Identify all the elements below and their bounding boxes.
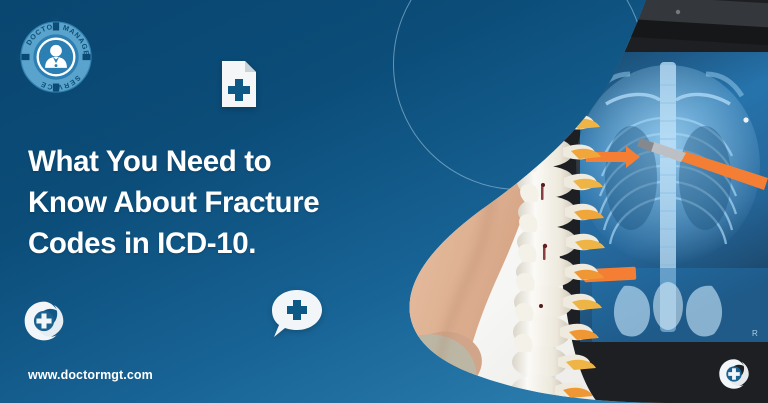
promo-banner: R: [0, 0, 768, 403]
page-title: What You Need to Know About Fracture Cod…: [28, 141, 373, 264]
medical-swirl-cross-icon-right: [718, 358, 750, 390]
medical-document-icon: [219, 59, 259, 109]
medical-speech-bubble-icon: [268, 287, 326, 343]
headline-line-3: Codes in ICD-10.: [28, 223, 373, 264]
website-url[interactable]: www.doctormgt.com: [28, 368, 153, 382]
doctor-management-service-logo[interactable]: DOCTOR MANAGEMENT SERVICE: [17, 18, 95, 96]
spine-model-xray-photo: R: [348, 0, 768, 403]
headline-line-1: What You Need to: [28, 141, 373, 182]
headline-line-2: Know About Fracture: [28, 182, 373, 223]
medical-swirl-cross-icon-left: [23, 300, 65, 342]
